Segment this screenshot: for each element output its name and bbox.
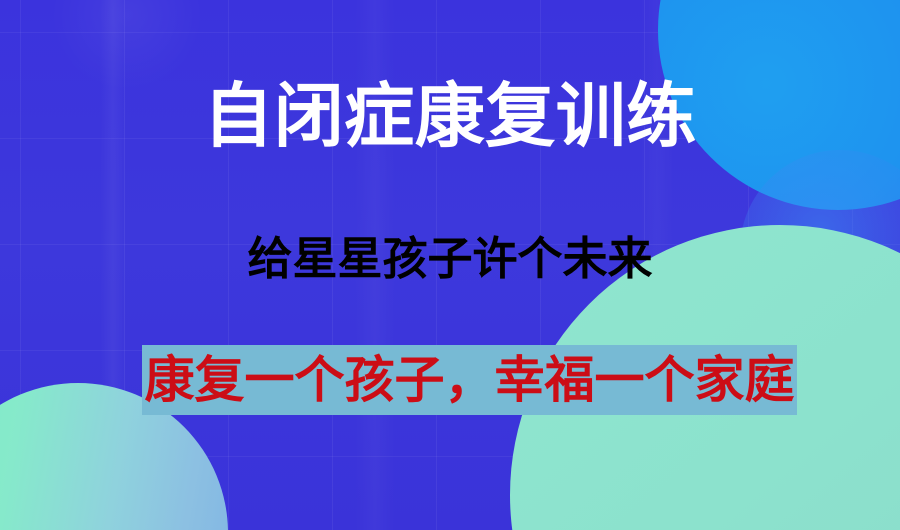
highlight-banner-text: 康复一个孩子，幸福一个家庭: [145, 355, 795, 405]
highlight-banner: 康复一个孩子，幸福一个家庭: [142, 345, 797, 415]
poster-subtitle: 给星星孩子许个未来: [0, 234, 900, 284]
poster-content: 自闭症康复训练 给星星孩子许个未来 康复一个孩子，幸福一个家庭: [0, 0, 900, 530]
poster-canvas: 自闭症康复训练 给星星孩子许个未来 康复一个孩子，幸福一个家庭: [0, 0, 900, 530]
poster-title: 自闭症康复训练: [0, 78, 900, 155]
